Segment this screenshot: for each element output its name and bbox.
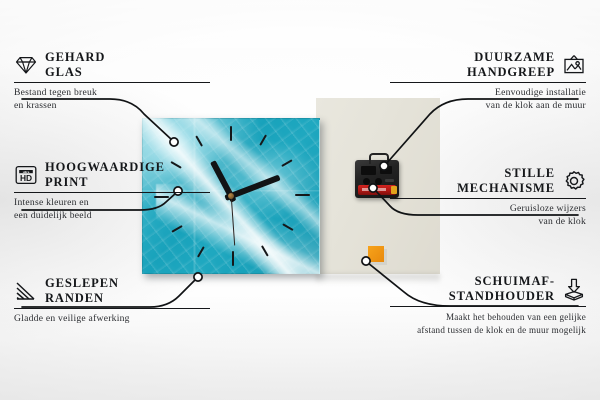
feature-divider — [14, 308, 210, 309]
beveled-edges-icon — [14, 279, 38, 303]
connector-dot-gehard-glas — [170, 138, 178, 146]
feature-divider — [14, 192, 210, 193]
svg-text:HD: HD — [20, 173, 32, 183]
feature-duurzame-handgreep: DUURZAME HANDGREEP Eenvoudige installati… — [390, 50, 586, 113]
feature-description: Bestand tegen breuk en krassen — [14, 87, 210, 113]
feature-title: GEHARD GLAS — [45, 50, 105, 79]
connector-dot-schuimafstandhouder — [362, 257, 370, 265]
connector-dot-duurzame-handgreep — [380, 162, 388, 170]
picture-frame-hanging-icon — [562, 53, 586, 77]
feature-stille-mechanisme: STILLE MECHANISME Geruisloze wijzers van… — [390, 166, 586, 229]
feature-description: Geruisloze wijzers van de klok — [390, 203, 586, 229]
feature-schuimafstandhouder: SCHUIMAF- STANDHOUDER Maakt het behouden… — [390, 274, 586, 336]
feature-description: Intense kleuren en een duidelijk beeld — [14, 197, 210, 223]
feature-divider — [390, 306, 586, 307]
foam-spacer-icon — [562, 277, 586, 301]
feature-gehard-glas: GEHARD GLAS Bestand tegen breuk en krass… — [14, 50, 210, 113]
diamond-icon — [14, 53, 38, 77]
feature-hoogwaardige-print: ultra HD HOOGWAARDIGE PRINT Intense kleu… — [14, 160, 210, 223]
feature-divider — [14, 82, 210, 83]
gear-icon — [562, 169, 586, 193]
feature-divider — [390, 82, 586, 83]
ultra-hd-icon: ultra HD — [14, 163, 38, 187]
feature-description: Gladde en veilige afwerking — [14, 313, 210, 326]
feature-description: Eenvoudige installatie van de klok aan d… — [390, 87, 586, 113]
feature-divider — [390, 198, 586, 199]
connector-dot-stille-mechanisme — [369, 184, 377, 192]
feature-description: Maakt het behouden van een gelijke afsta… — [390, 311, 586, 336]
feature-title: STILLE MECHANISME — [457, 166, 555, 195]
feature-title: GESLEPEN RANDEN — [45, 276, 119, 305]
feature-geslepen-randen: GESLEPEN RANDEN Gladde en veilige afwerk… — [14, 276, 210, 326]
feature-title: SCHUIMAF- STANDHOUDER — [449, 274, 555, 303]
feature-title: HOOGWAARDIGE PRINT — [45, 160, 165, 189]
infographic-canvas: GEHARD GLAS Bestand tegen breuk en krass… — [0, 0, 600, 400]
feature-title: DUURZAME HANDGREEP — [467, 50, 555, 79]
